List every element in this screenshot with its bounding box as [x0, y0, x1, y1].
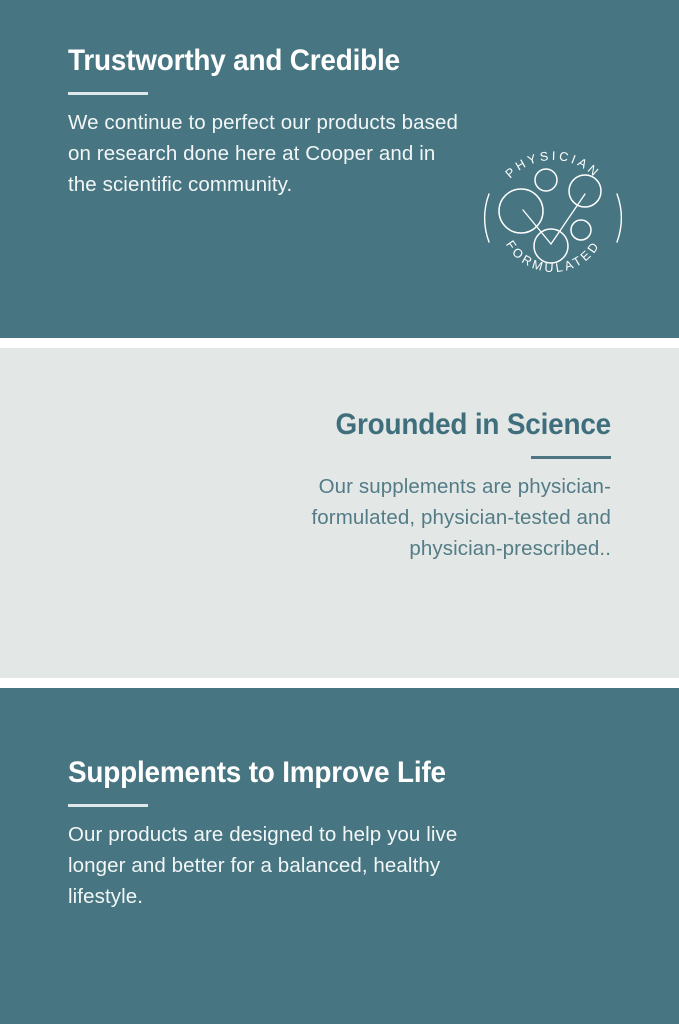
section-3-divider	[68, 804, 148, 807]
section-grounded-in-science: Grounded in Science Our supplements are …	[0, 348, 679, 678]
badge-bottom-text: FORMULATED	[503, 238, 603, 275]
badge-top-text: PHYSICIAN	[503, 149, 604, 181]
section-1-title: Trustworthy and Credible	[68, 44, 440, 78]
section-1-divider	[68, 92, 148, 95]
section-trustworthy-and-credible: Trustworthy and Credible We continue to …	[0, 0, 679, 338]
section-supplements-to-improve-life: Supplements to Improve Life Our products…	[0, 688, 679, 1024]
section-2-content: Grounded in Science Our supplements are …	[231, 408, 611, 564]
section-2-divider	[531, 456, 611, 459]
section-3-title: Supplements to Improve Life	[68, 756, 468, 790]
svg-text:PHYSICIAN: PHYSICIAN	[503, 149, 604, 181]
section-1-body: We continue to perfect our products base…	[68, 107, 468, 200]
section-1-content: Trustworthy and Credible We continue to …	[68, 44, 468, 200]
section-3-body: Our products are designed to help you li…	[68, 819, 498, 912]
section-3-content: Supplements to Improve Life Our products…	[68, 756, 498, 912]
promo-panel-page: Trustworthy and Credible We continue to …	[0, 0, 679, 1024]
svg-text:FORMULATED: FORMULATED	[503, 238, 603, 275]
section-2-title: Grounded in Science	[258, 408, 611, 442]
section-2-body: Our supplements are physician-formulated…	[231, 471, 611, 564]
physician-formulated-badge-icon: PHYSICIAN FORMULATED	[473, 138, 633, 298]
